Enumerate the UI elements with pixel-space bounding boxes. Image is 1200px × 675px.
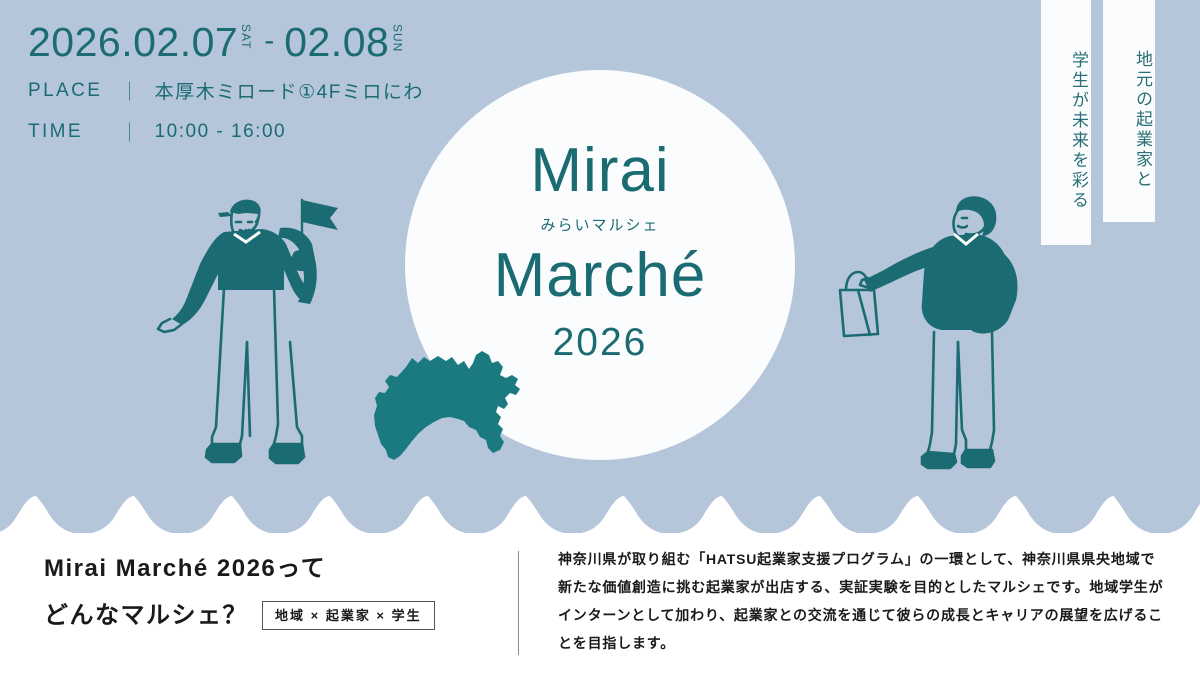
- person-with-flag-illustration: [152, 192, 348, 472]
- place-separator: ｜: [120, 77, 141, 104]
- event-date-line: 2026.02.07 SAT - 02.08 SUN: [28, 22, 424, 63]
- person-with-shopping-bag-illustration: [822, 192, 1040, 480]
- question-line-1: Mirai Marché 2026って: [44, 557, 474, 581]
- keywords-tag: 地域 × 起業家 × 学生: [262, 601, 435, 630]
- scalloped-wave-divider: [0, 472, 1200, 533]
- vertical-banner-left: 学生が未来を彩る: [1041, 0, 1091, 245]
- time-value: 10:00 - 16:00: [155, 121, 286, 143]
- place-label: PLACE: [28, 80, 120, 102]
- day-of-week-start: SAT: [240, 24, 252, 49]
- question-line-2: どんなマルシェ？: [44, 604, 248, 628]
- time-separator: ｜: [120, 118, 141, 145]
- event-logo: Mirai みらいマルシェ Marché 2026: [405, 140, 795, 365]
- kanagawa-prefecture-map-icon: [372, 345, 537, 465]
- bottom-description-section: Mirai Marché 2026って どんなマルシェ？ 地域 × 起業家 × …: [0, 533, 1200, 675]
- vertical-banner-right: 地元の起業家と: [1103, 0, 1155, 222]
- day-of-week-end: SUN: [391, 24, 403, 52]
- time-label: TIME: [28, 121, 120, 143]
- time-line: TIME ｜ 10:00 - 16:00: [28, 118, 424, 145]
- poster-root: Mirai みらいマルシェ Marché 2026 地元の起業家と 学生が未来を…: [0, 0, 1200, 675]
- event-info-block: 2026.02.07 SAT - 02.08 SUN PLACE ｜ 本厚木ミロ…: [28, 22, 424, 145]
- description-text: 神奈川県が取り組む「HATSU起業家支援プログラム」の一環として、神奈川県県央地…: [558, 545, 1166, 657]
- hero-section: Mirai みらいマルシェ Marché 2026 地元の起業家と 学生が未来を…: [0, 0, 1200, 533]
- date-end: 02.08: [284, 22, 389, 63]
- date-range-separator: -: [264, 22, 274, 60]
- logo-line-marche: Marché: [405, 245, 795, 307]
- question-row-2: どんなマルシェ？ 地域 × 起業家 × 学生: [44, 601, 474, 630]
- vertical-divider: [518, 551, 519, 655]
- question-block: Mirai Marché 2026って どんなマルシェ？ 地域 × 起業家 × …: [44, 557, 474, 630]
- place-value: 本厚木ミロード①4Fミロにわ: [155, 77, 424, 104]
- date-start: 2026.02.07: [28, 22, 238, 63]
- logo-line-mirai: Mirai: [405, 140, 795, 202]
- place-line: PLACE ｜ 本厚木ミロード①4Fミロにわ: [28, 77, 424, 104]
- logo-kana-subtitle: みらいマルシェ: [405, 214, 795, 235]
